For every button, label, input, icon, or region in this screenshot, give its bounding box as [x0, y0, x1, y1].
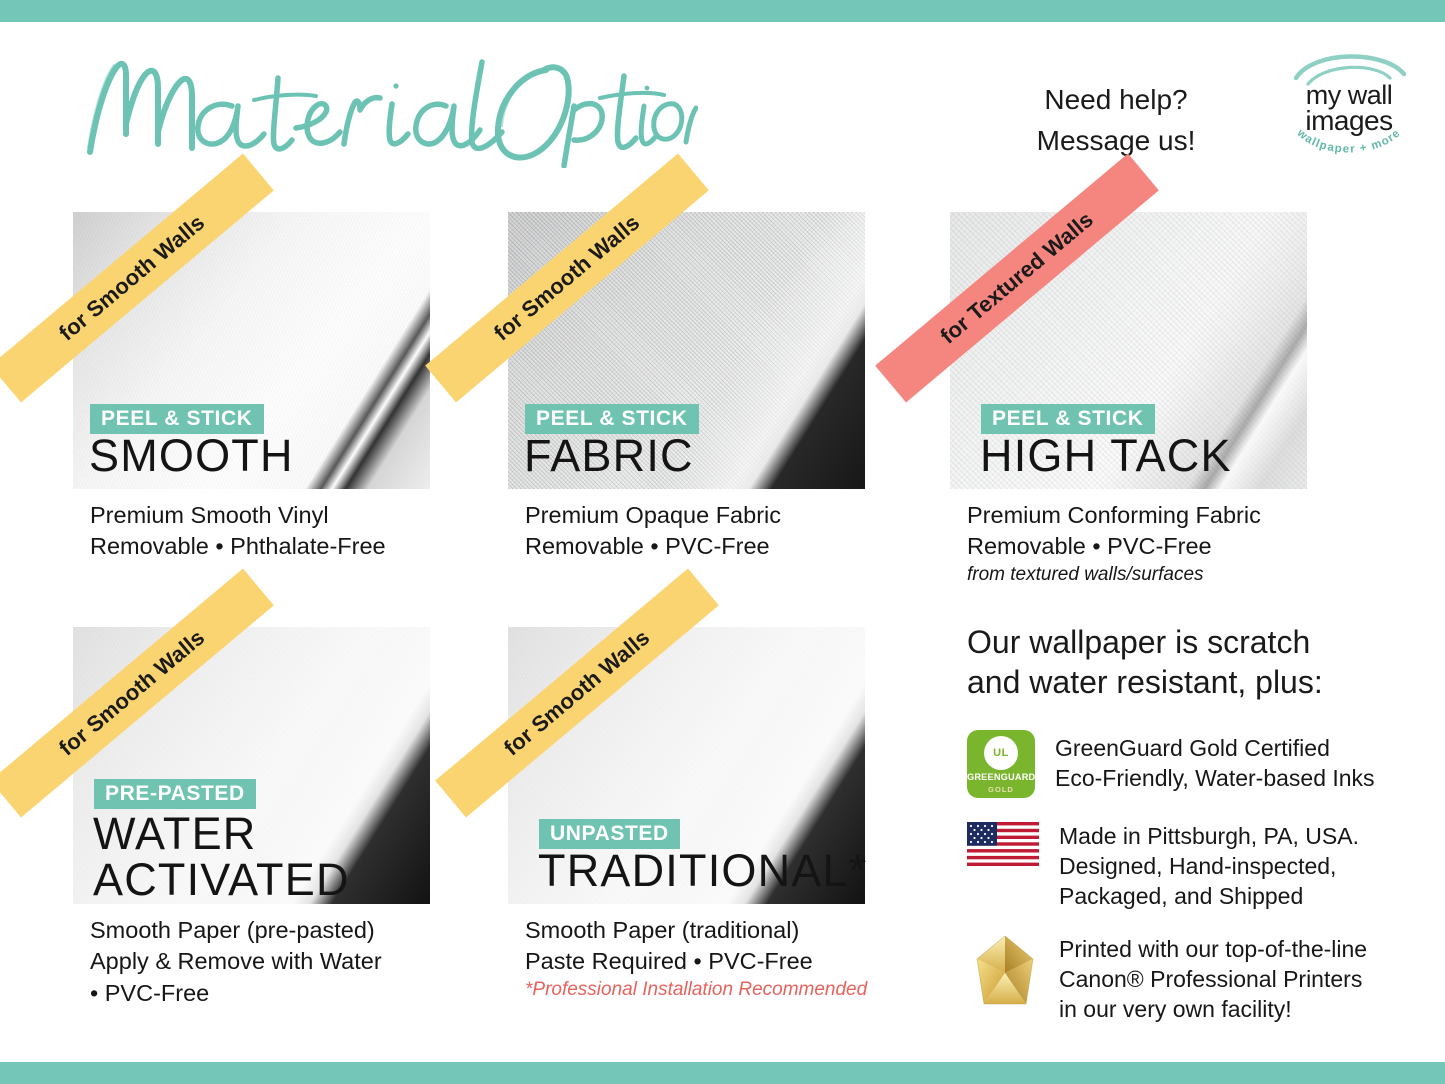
features-heading: Our wallpaper is scratch and water resis…	[967, 622, 1387, 703]
material-name: HIGH TACK	[980, 434, 1232, 478]
material-name: SMOOTH	[89, 434, 294, 478]
desc-line-2: Apply & Remove with Water	[90, 946, 510, 977]
feature-canon-printers: Printed with our top-of-the-line Canon® …	[967, 933, 1397, 1025]
feature-line-2: Designed, Hand-inspected,	[1059, 852, 1359, 882]
material-description: Smooth Paper (traditional) Paste Require…	[525, 915, 955, 1002]
feature-line-2: Eco-Friendly, Water-based Inks	[1055, 764, 1375, 794]
material-card-smooth[interactable]: for Smooth Walls PEEL & STICK SMOOTH Pre…	[73, 212, 430, 489]
feature-text: Printed with our top-of-the-line Canon® …	[1059, 933, 1367, 1025]
need-help-line1: Need help?	[1016, 80, 1216, 121]
top-accent-bar	[0, 0, 1445, 22]
adhesive-badge-label: PEEL & STICK	[536, 407, 688, 430]
need-help-text: Need help? Message us!	[1016, 80, 1216, 161]
desc-line-2: Removable • PVC-Free	[525, 531, 925, 562]
brand-logo: my wall images wallpaper + more	[1278, 44, 1420, 160]
desc-line-2: Removable • Phthalate-Free	[90, 531, 490, 562]
desc-note: *Professional Installation Recommended	[525, 978, 955, 1003]
material-description: Premium Smooth Vinyl Removable • Phthala…	[90, 500, 490, 563]
material-name: WATER ACTIVATED	[93, 811, 350, 903]
feature-line-1: Printed with our top-of-the-line	[1059, 935, 1367, 965]
desc-line-2: Paste Required • PVC-Free	[525, 946, 955, 977]
greenguard-tier: GOLD	[967, 785, 1035, 794]
material-name: FABRIC	[524, 434, 694, 478]
ul-circle: UL	[984, 736, 1018, 770]
feature-text: GreenGuard Gold Certified Eco-Friendly, …	[1055, 730, 1375, 798]
material-card-high-tack[interactable]: for Textured Walls PEEL & STICK HIGH TAC…	[950, 212, 1307, 489]
feature-line-1: Made in Pittsburgh, PA, USA.	[1059, 822, 1359, 852]
desc-note: from textured walls/surfaces	[967, 563, 1397, 588]
feature-made-in-usa: Made in Pittsburgh, PA, USA. Designed, H…	[967, 822, 1397, 912]
features-heading-line1: Our wallpaper is scratch	[967, 622, 1387, 662]
material-card-fabric[interactable]: for Smooth Walls PEEL & STICK FABRIC Pre…	[508, 212, 865, 489]
adhesive-badge-label: PRE-PASTED	[105, 782, 245, 805]
feature-line-3: Packaged, and Shipped	[1059, 882, 1359, 912]
material-description: Smooth Paper (pre-pasted) Apply & Remove…	[90, 915, 510, 1009]
desc-line-1: Smooth Paper (pre-pasted)	[90, 915, 510, 946]
desc-line-1: Premium Conforming Fabric	[967, 500, 1397, 531]
feature-line-3: in our very own facility!	[1059, 995, 1367, 1025]
desc-line-3: • PVC-Free	[90, 978, 510, 1009]
svg-text:images: images	[1305, 105, 1392, 136]
page-title	[78, 48, 698, 168]
greenguard-icon: UL GREENGUARD GOLD	[967, 730, 1035, 798]
feature-line-1: GreenGuard Gold Certified	[1055, 734, 1375, 764]
usa-flag-icon	[967, 822, 1039, 912]
adhesive-badge-label: UNPASTED	[550, 822, 669, 845]
bottom-accent-bar	[0, 1062, 1445, 1084]
material-name: TRADITIONAL*	[538, 849, 867, 893]
adhesive-badge-label: PEEL & STICK	[992, 407, 1144, 430]
material-options-page: Need help? Message us! my wall images wa…	[0, 0, 1445, 1084]
feature-line-2: Canon® Professional Printers	[1059, 965, 1367, 995]
desc-line-1: Premium Opaque Fabric	[525, 500, 925, 531]
material-description: Premium Opaque Fabric Removable • PVC-Fr…	[525, 500, 925, 563]
ul-label: UL	[993, 748, 1009, 759]
material-card-water-activated[interactable]: for Smooth Walls PRE-PASTED WATER ACTIVA…	[73, 627, 430, 904]
feature-text: Made in Pittsburgh, PA, USA. Designed, H…	[1059, 822, 1359, 912]
gold-star-icon	[967, 933, 1043, 1025]
desc-line-2: Removable • PVC-Free	[967, 531, 1397, 562]
adhesive-badge: PRE-PASTED	[94, 779, 256, 809]
adhesive-badge-label: PEEL & STICK	[101, 407, 253, 430]
desc-line-1: Premium Smooth Vinyl	[90, 500, 490, 531]
need-help-line2: Message us!	[1016, 121, 1216, 162]
feature-greenguard: UL GREENGUARD GOLD GreenGuard Gold Certi…	[967, 730, 1397, 798]
desc-line-1: Smooth Paper (traditional)	[525, 915, 955, 946]
greenguard-label: GREENGUARD	[967, 772, 1035, 782]
material-description: Premium Conforming Fabric Removable • PV…	[967, 500, 1397, 587]
features-heading-line2: and water resistant, plus:	[967, 662, 1387, 702]
material-card-traditional[interactable]: for Smooth Walls UNPASTED TRADITIONAL* S…	[508, 627, 865, 904]
